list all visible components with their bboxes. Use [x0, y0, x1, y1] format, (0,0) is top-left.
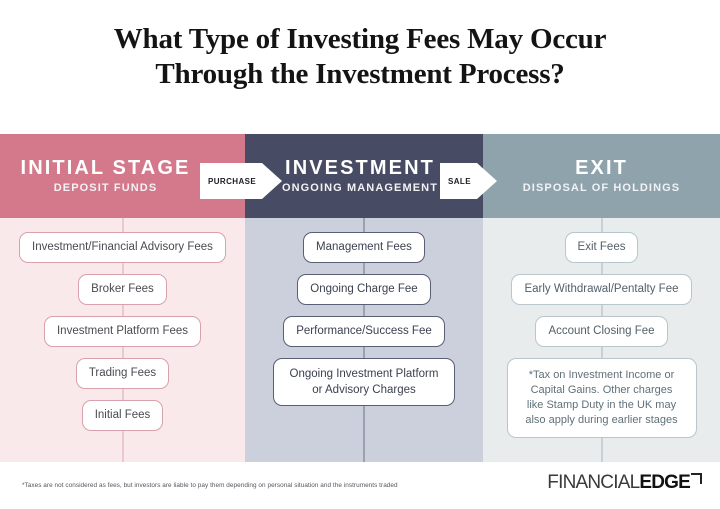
fee-box: Early Withdrawal/Pentalty Fee	[511, 274, 691, 305]
fee-box: Ongoing Charge Fee	[297, 274, 430, 305]
stage-column-initial: Investment/Financial Advisory Fees Broke…	[0, 218, 245, 462]
sale-arrow-body: SALE	[440, 163, 477, 199]
stage-header-initial-title: INITIAL STAGE	[21, 157, 191, 179]
fee-box: Initial Fees	[82, 400, 164, 431]
logo-text-light: FINANCIAL	[547, 472, 639, 494]
tax-note-box: *Tax on Investment Income or Capital Gai…	[507, 358, 697, 438]
stage-header-investment-title: INVESTMENT	[285, 157, 435, 179]
purchase-arrow-icon: PURCHASE	[200, 163, 282, 199]
stage-header-investment-subtitle: ONGOING MANAGEMENT	[282, 180, 438, 196]
stage-header-exit-subtitle: DISPOSAL OF HOLDINGS	[523, 180, 680, 196]
purchase-arrow-head	[262, 163, 282, 199]
logo-corner-mark-icon	[691, 473, 702, 484]
fee-box: Management Fees	[303, 232, 425, 263]
footnote-text: *Taxes are not considered as fees, but i…	[22, 482, 398, 489]
sale-arrow-head	[477, 163, 497, 199]
fee-box: Ongoing Investment Platform or Advisory …	[273, 358, 455, 406]
stage-header-band: INITIAL STAGE DEPOSIT FUNDS INVESTMENT O…	[0, 134, 720, 218]
stage-header-exit-title: EXIT	[575, 157, 628, 179]
page-title: What Type of Investing Fees May Occur Th…	[0, 22, 720, 92]
fee-box: Account Closing Fee	[535, 316, 667, 347]
fee-list-investment: Management Fees Ongoing Charge Fee Perfo…	[245, 232, 483, 406]
stage-header-exit: EXIT DISPOSAL OF HOLDINGS	[483, 134, 720, 218]
sale-arrow-icon: SALE	[440, 163, 497, 199]
page-title-line-1: What Type of Investing Fees May Occur	[0, 22, 720, 57]
purchase-arrow-label: PURCHASE	[208, 177, 256, 186]
stage-header-initial-subtitle: DEPOSIT FUNDS	[54, 180, 158, 196]
fee-box: Trading Fees	[76, 358, 169, 389]
stage-column-investment: Management Fees Ongoing Charge Fee Perfo…	[245, 218, 483, 462]
financial-edge-logo: FINANCIAL EDGE	[547, 472, 702, 494]
stage-columns: Investment/Financial Advisory Fees Broke…	[0, 218, 720, 462]
fee-box: Exit Fees	[565, 232, 639, 263]
fee-list-exit: Exit Fees Early Withdrawal/Pentalty Fee …	[483, 232, 720, 438]
fee-box: Performance/Success Fee	[283, 316, 445, 347]
logo-text-bold: EDGE	[639, 472, 690, 494]
fee-box: Investment Platform Fees	[44, 316, 201, 347]
fee-box: Investment/Financial Advisory Fees	[19, 232, 226, 263]
sale-arrow-label: SALE	[448, 177, 471, 186]
page-title-line-2: Through the Investment Process?	[0, 57, 720, 92]
stage-column-exit: Exit Fees Early Withdrawal/Pentalty Fee …	[483, 218, 720, 462]
fee-box: Broker Fees	[78, 274, 167, 305]
purchase-arrow-body: PURCHASE	[200, 163, 262, 199]
fee-list-initial: Investment/Financial Advisory Fees Broke…	[0, 232, 245, 431]
